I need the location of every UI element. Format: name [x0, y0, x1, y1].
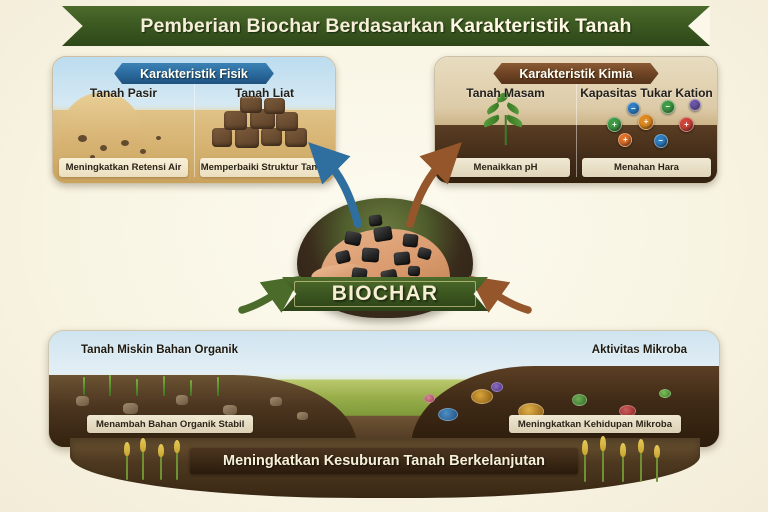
bottom-right-caption: Meningkatkan Kehidupan Mikroba	[509, 415, 681, 433]
pebble	[121, 140, 129, 146]
microbe-cell	[471, 389, 493, 404]
chemical-acid-caption: Menaikkan pH	[441, 158, 570, 177]
chemical-banner-label: Karakteristik Kimia	[519, 67, 632, 81]
panel-divider	[194, 83, 195, 177]
biochar-chunk	[402, 233, 418, 247]
ion-sphere	[689, 99, 701, 111]
biochar-chunk	[343, 230, 361, 246]
ion-sphere: +	[638, 114, 654, 130]
bottom-left-caption: Menambah Bahan Organik Stabil	[87, 415, 253, 433]
microbe-cell	[424, 394, 435, 403]
biochar-label: BIOCHAR	[332, 282, 438, 306]
physical-sand-title: Tanah Pasir	[53, 86, 194, 100]
grass-blade	[190, 380, 192, 396]
soil-clod	[212, 128, 232, 147]
soil-rock	[270, 397, 282, 406]
biochar-chunk	[408, 266, 421, 277]
wheat-head	[620, 443, 626, 457]
grass-blade	[217, 377, 219, 396]
wheat-stalk	[656, 456, 658, 482]
soil-rock	[123, 403, 138, 414]
soil-clod	[285, 128, 308, 147]
title-part-normal: Pemberian Biochar Berdasarkan	[140, 15, 450, 37]
wheat-stalk	[622, 454, 624, 482]
soil-clod	[224, 111, 247, 130]
page-title: Pemberian Biochar Berdasarkan Karakteris…	[140, 15, 631, 38]
grass-blade	[83, 377, 85, 395]
panel-divider	[576, 83, 577, 177]
wheat-head	[600, 436, 606, 451]
footer-caption: Meningkatkan Kesuburan Tanah Berkelanjut…	[223, 453, 545, 469]
footer-caption-bar: Meningkatkan Kesuburan Tanah Berkelanjut…	[190, 448, 578, 474]
grass-blade	[109, 375, 111, 396]
panel-karakteristik-kimia: Tanah Masam Menaikkan pH −+−+++− Kapasit…	[434, 56, 718, 184]
wheat-stalk	[584, 452, 586, 482]
grass-blade	[136, 379, 138, 396]
ion-sphere: +	[618, 133, 632, 147]
wheat-stalk	[142, 448, 144, 480]
soil-rock	[223, 405, 237, 415]
biochar-chunk	[373, 225, 393, 242]
wheat-stalk	[126, 452, 128, 480]
wheat-stalk	[602, 448, 604, 482]
biochar-label-ribbon: BIOCHAR	[282, 277, 488, 311]
microbe-cell	[572, 394, 587, 406]
microbe-cell	[438, 408, 458, 421]
soil-rock	[297, 412, 308, 420]
wheat-head	[654, 445, 660, 458]
physical-clay-title: Tanah Liat	[194, 86, 335, 100]
wheat-cluster	[120, 442, 190, 482]
arrow-biochar-to-chemical	[400, 138, 460, 230]
title-banner: Pemberian Biochar Berdasarkan Karakteris…	[62, 6, 710, 46]
wheat-head	[124, 442, 130, 456]
physical-banner-label: Karakteristik Fisik	[140, 67, 248, 81]
wheat-stalk	[176, 450, 178, 480]
soil-rock	[176, 395, 188, 405]
panel-bottom-scene: Tanah Miskin Bahan Organik Aktivitas Mik…	[48, 330, 720, 448]
biochar-chunk	[393, 251, 410, 265]
biochar-chunk	[369, 214, 383, 227]
arrow-biochar-to-physical	[310, 138, 370, 230]
wheat-head	[140, 438, 146, 452]
bottom-right-label: Aktivitas Mikroba	[592, 344, 687, 356]
wheat-head	[174, 440, 180, 453]
wheat-stalk	[160, 454, 162, 480]
wheat-cluster	[578, 440, 668, 482]
wheat-head	[638, 439, 644, 453]
chemical-acid-title: Tanah Masam	[435, 86, 576, 100]
infographic-canvas: Pemberian Biochar Berdasarkan Karakteris…	[0, 0, 768, 512]
soil-clod	[264, 98, 284, 115]
ion-sphere: −	[661, 100, 675, 114]
physical-banner: Karakteristik Fisik	[114, 63, 274, 84]
soil-rock	[76, 396, 89, 406]
soil-clod	[276, 112, 297, 130]
pebble	[100, 145, 107, 151]
wheat-head	[158, 444, 164, 457]
chemical-cec-caption: Menahan Hara	[582, 158, 711, 177]
chemical-banner: Karakteristik Kimia	[493, 63, 658, 84]
grass-blade	[163, 376, 165, 396]
clay-mound	[205, 92, 323, 147]
title-part-strong: Karakteristik Tanah	[450, 15, 631, 37]
panel-karakteristik-fisik: Tanah Pasir Meningkatkan Retensi Air	[52, 56, 336, 184]
biochar-chunk	[362, 248, 380, 263]
physical-sand-caption: Meningkatkan Retensi Air	[59, 158, 188, 177]
chemical-cec-title: Kapasitas Tukar Kation	[576, 86, 717, 100]
microbe-cell	[659, 389, 671, 398]
wheat-head	[582, 440, 588, 455]
ion-sphere: −	[654, 134, 668, 148]
bottom-left-label: Tanah Miskin Bahan Organik	[81, 344, 238, 356]
wheat-stalk	[640, 450, 642, 482]
